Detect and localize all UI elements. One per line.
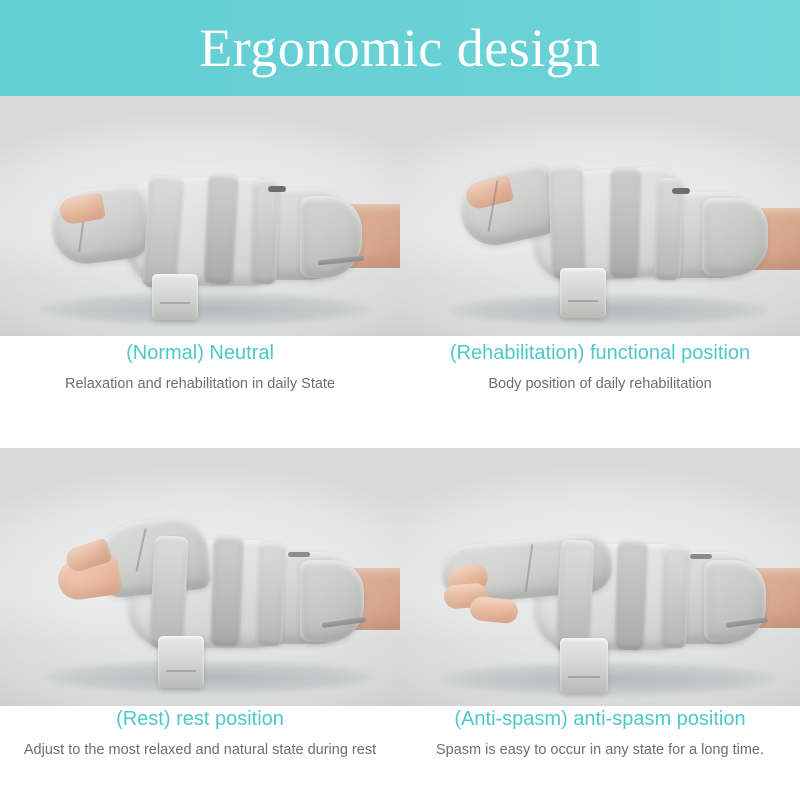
panel-normal-neutral: (Normal) Neutral Relaxation and rehabili… [0, 96, 400, 448]
panel-rehabilitation-functional: (Rehabilitation) functional position Bod… [400, 96, 800, 448]
panel-anti-spasm-position-subtitle: Spasm is easy to occur in any state for … [408, 740, 792, 761]
panel-normal-neutral-subtitle: Relaxation and rehabilitation in daily S… [8, 374, 392, 395]
panel-normal-neutral-title: (Normal) Neutral [8, 340, 392, 366]
panel-anti-spasm-position-title: (Anti-spasm) anti-spasm position [408, 706, 792, 732]
panel-normal-neutral-image [0, 96, 400, 336]
header-banner: Ergonomic design [0, 0, 800, 96]
panel-rehabilitation-functional-image [400, 96, 800, 336]
panel-rest-position-subtitle: Adjust to the most relaxed and natural s… [8, 740, 392, 761]
panel-rehabilitation-functional-title: (Rehabilitation) functional position [408, 340, 792, 366]
panel-rest-position-title: (Rest) rest position [8, 706, 392, 732]
page-title: Ergonomic design [199, 21, 600, 75]
panel-rest-position: (Rest) rest position Adjust to the most … [0, 448, 400, 800]
page-root: Ergonomic design [0, 0, 800, 800]
panel-anti-spasm-position: (Anti-spasm) anti-spasm position Spasm i… [400, 448, 800, 800]
panel-rest-position-image [0, 448, 400, 706]
panel-grid: (Normal) Neutral Relaxation and rehabili… [0, 96, 800, 800]
panel-anti-spasm-position-image [400, 448, 800, 706]
panel-rehabilitation-functional-subtitle: Body position of daily rehabilitation [408, 374, 792, 395]
